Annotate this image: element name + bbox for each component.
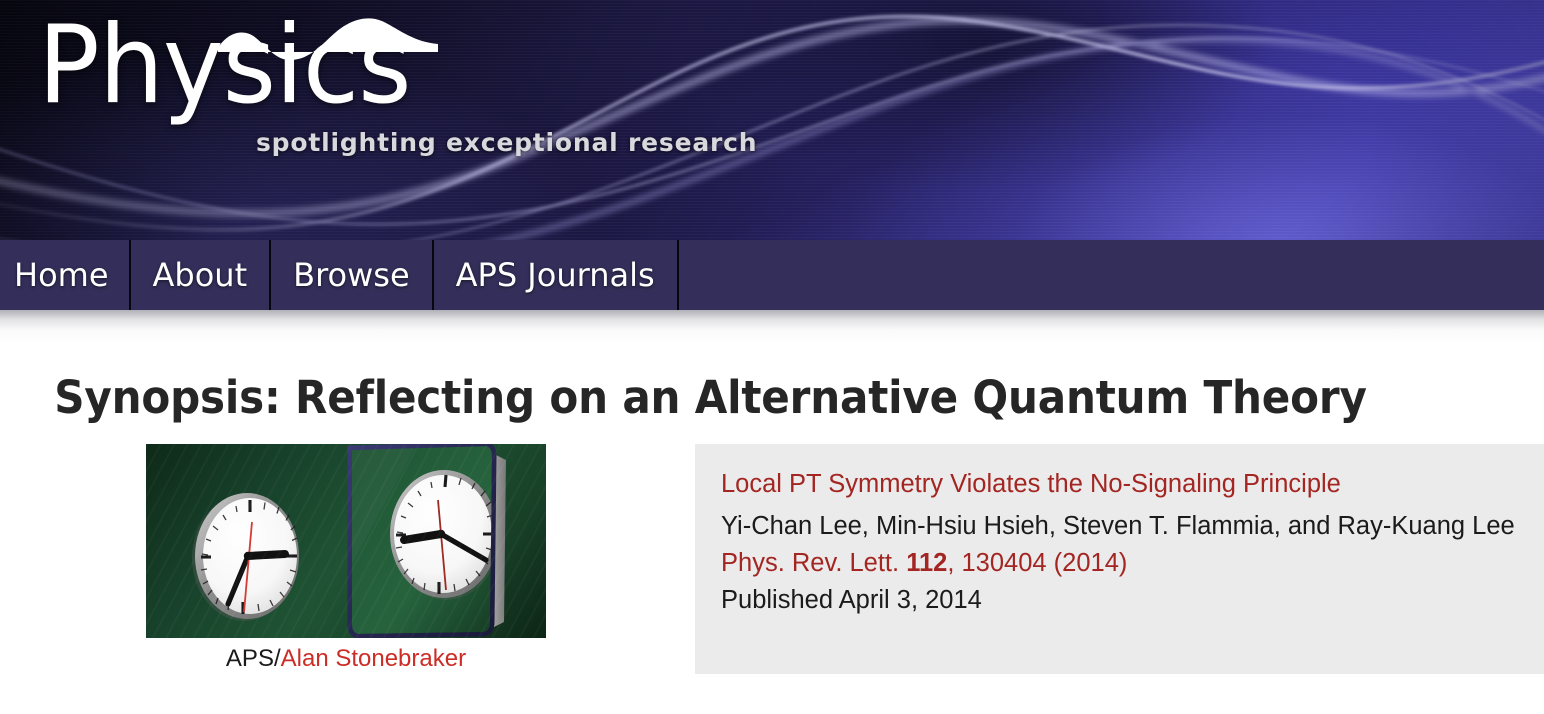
nav-drop-shadow	[0, 310, 1544, 344]
site-banner: Physics spotlighting exceptional researc…	[0, 0, 1544, 240]
figure-sheen	[146, 444, 546, 638]
reference-infobox: Local PT Symmetry Violates the No-Signal…	[695, 444, 1544, 674]
reference-paper-title-link[interactable]: Local PT Symmetry Violates the No-Signal…	[721, 466, 1522, 503]
page-title: Synopsis: Reflecting on an Alternative Q…	[0, 344, 1444, 424]
site-logo[interactable]: Physics	[36, 10, 796, 122]
figure-caption-credit[interactable]: Alan Stonebraker	[281, 645, 466, 672]
article-header-row: APS/Alan Stonebraker Local PT Symmetry V…	[0, 444, 1544, 674]
nav-empty-space	[679, 240, 1544, 310]
main-navigation: Home About Browse APS Journals	[0, 240, 1544, 310]
nav-item-home[interactable]: Home	[0, 240, 131, 310]
reference-citation[interactable]: Phys. Rev. Lett. 112, 130404 (2014)	[721, 545, 1522, 582]
citation-volume: 112	[906, 549, 947, 577]
article-figure: APS/Alan Stonebraker	[146, 444, 546, 674]
sine-wave-icon	[218, 18, 438, 64]
nav-item-aps-journals[interactable]: APS Journals	[434, 240, 679, 310]
site-tagline: spotlighting exceptional research	[256, 128, 757, 157]
article-content: Synopsis: Reflecting on an Alternative Q…	[0, 344, 1544, 674]
reference-published-date: Published April 3, 2014	[721, 582, 1522, 619]
figure-caption: APS/Alan Stonebraker	[146, 644, 546, 674]
citation-rest: , 130404 (2014)	[947, 549, 1127, 577]
nav-item-about[interactable]: About	[131, 240, 272, 310]
nav-item-browse[interactable]: Browse	[271, 240, 434, 310]
two-clocks-and-mirror-illustration[interactable]	[146, 444, 546, 638]
reference-authors: Yi-Chan Lee, Min-Hsiu Hsieh, Steven T. F…	[721, 508, 1522, 545]
citation-journal: Phys. Rev. Lett.	[721, 549, 906, 577]
figure-caption-source: APS/	[226, 645, 281, 672]
